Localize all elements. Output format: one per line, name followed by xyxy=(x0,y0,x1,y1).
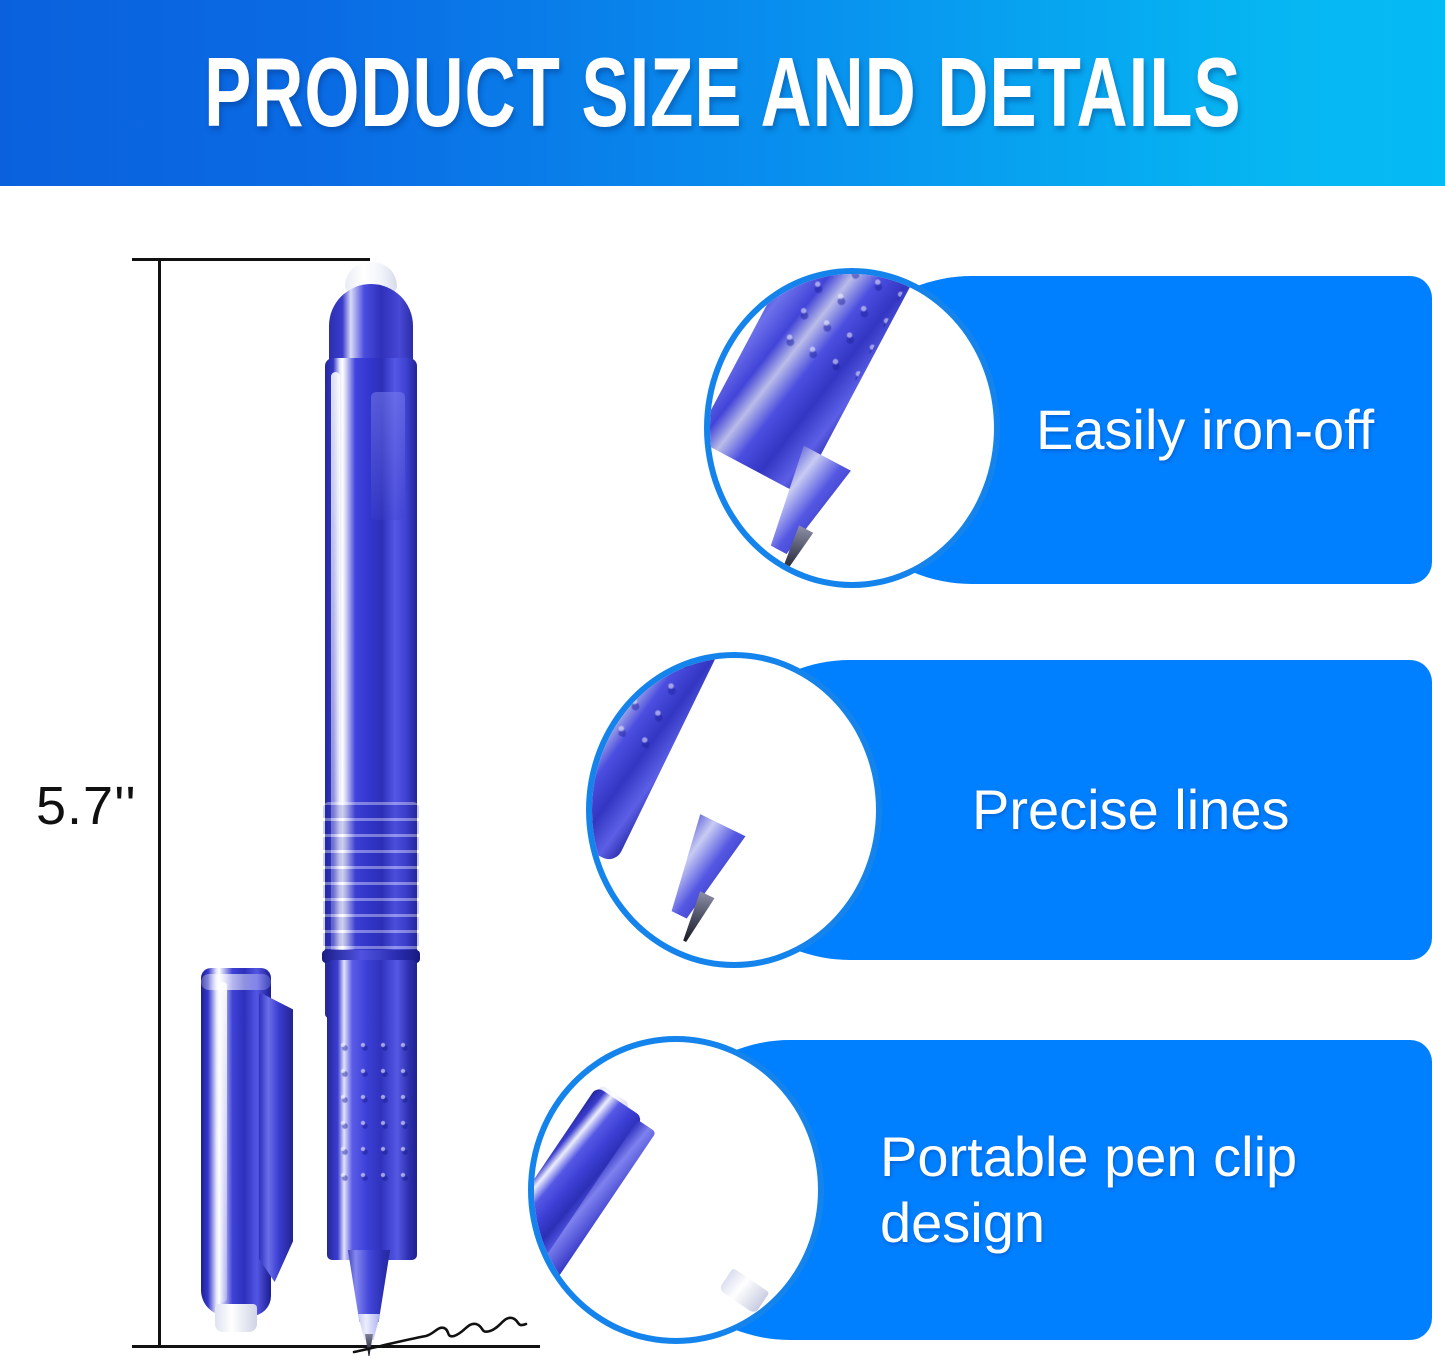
dimension-tick-top xyxy=(132,258,370,261)
dimension-line xyxy=(158,259,161,1346)
feature-label-easily-iron-off: Easily iron-off xyxy=(1036,397,1374,463)
zoom-circle-precise-lines xyxy=(586,652,882,968)
pen-body xyxy=(305,262,430,1352)
feature-label-precise-lines: Precise lines xyxy=(972,777,1289,843)
pen-cap-foot xyxy=(215,1304,257,1332)
pen-ink-window xyxy=(371,392,405,520)
mini-pen-foot xyxy=(718,1268,769,1314)
zoom-circle-portable-pen-clip-design xyxy=(528,1036,824,1344)
capped-pen-closeup xyxy=(578,1082,788,1312)
pen-tip-closeup-1 xyxy=(710,274,994,582)
pen-cap-top-ring xyxy=(201,974,271,990)
handwritten-squiggle xyxy=(352,1296,552,1358)
pen-grip-dots xyxy=(333,1032,411,1182)
pen-cap-clip xyxy=(259,992,293,1282)
pen-cap-highlight xyxy=(219,982,227,1302)
pen-cap xyxy=(193,968,313,1348)
pen-threaded-section xyxy=(323,802,419,952)
dimension-label: 5.7'' xyxy=(36,775,137,837)
pen-tip-closeup-2 xyxy=(592,658,876,962)
zoom-circle-easily-iron-off xyxy=(704,268,1000,588)
feature-label-portable-pen-clip-design: Portable pen clip design xyxy=(880,1124,1297,1256)
